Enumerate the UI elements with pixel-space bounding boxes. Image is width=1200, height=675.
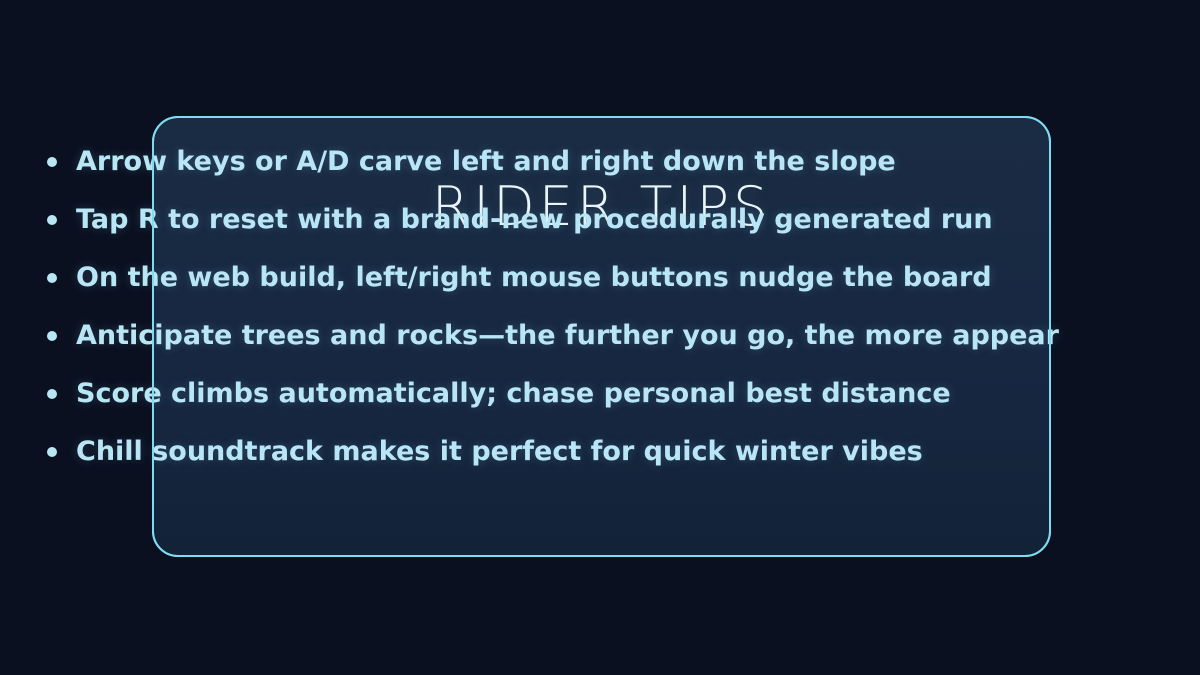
bullet-icon [47, 215, 57, 225]
bullet-icon [47, 331, 57, 341]
bullet-icon [47, 157, 57, 167]
rider-tips-list: Arrow keys or A/D carve left and right d… [43, 133, 1200, 481]
list-item: Arrow keys or A/D carve left and right d… [43, 133, 1200, 191]
list-item: Score climbs automatically; chase person… [43, 365, 1200, 423]
list-item: Chill soundtrack makes it perfect for qu… [43, 423, 1200, 481]
tips-screen: RIDER TIPS Arrow keys or A/D carve left … [0, 0, 1200, 675]
list-item: Anticipate trees and rocks—the further y… [43, 307, 1200, 365]
bullet-icon [47, 273, 57, 283]
list-item-label: Score climbs automatically; chase person… [76, 378, 951, 409]
list-item-label: Arrow keys or A/D carve left and right d… [76, 146, 896, 177]
bullet-icon [47, 447, 57, 457]
list-item-label: Anticipate trees and rocks—the further y… [76, 320, 1059, 351]
list-item: On the web build, left/right mouse butto… [43, 249, 1200, 307]
list-item-label: Chill soundtrack makes it perfect for qu… [76, 436, 923, 467]
bullet-icon [47, 389, 57, 399]
list-item: Tap R to reset with a brand-new procedur… [43, 191, 1200, 249]
list-item-label: On the web build, left/right mouse butto… [76, 262, 992, 293]
list-item-label: Tap R to reset with a brand-new procedur… [76, 204, 993, 235]
